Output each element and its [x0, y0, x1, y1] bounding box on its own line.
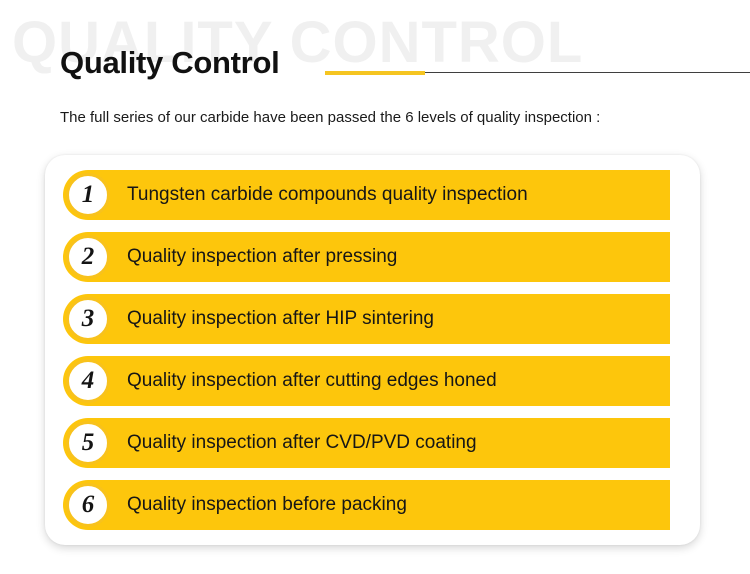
list-item[interactable]: 6 Quality inspection before packing	[45, 480, 700, 530]
title-rule-line	[425, 72, 750, 73]
page-header: QUALITY CONTROL Quality Control The full…	[0, 0, 750, 100]
step-number: 5	[82, 430, 95, 455]
list-item[interactable]: 5 Quality inspection after CVD/PVD coati…	[45, 418, 700, 468]
list-item[interactable]: 2 Quality inspection after pressing	[45, 232, 700, 282]
page-title: Quality Control	[60, 46, 279, 80]
steps-list: 1 Tungsten carbide compounds quality ins…	[45, 170, 700, 542]
title-accent-bar	[325, 71, 425, 75]
list-item[interactable]: 4 Quality inspection after cutting edges…	[45, 356, 700, 406]
title-divider	[325, 70, 750, 76]
step-label: Quality inspection after HIP sintering	[127, 294, 434, 344]
step-number-badge: 1	[66, 173, 110, 217]
page-subtitle: The full series of our carbide have been…	[60, 108, 600, 128]
steps-card: 1 Tungsten carbide compounds quality ins…	[45, 155, 700, 545]
step-number-badge: 2	[66, 235, 110, 279]
list-item[interactable]: 3 Quality inspection after HIP sintering	[45, 294, 700, 344]
step-number: 6	[82, 492, 95, 517]
step-label: Quality inspection after cutting edges h…	[127, 356, 497, 406]
step-number-badge: 4	[66, 359, 110, 403]
step-label: Quality inspection after pressing	[127, 232, 397, 282]
step-label: Quality inspection after CVD/PVD coating	[127, 418, 477, 468]
step-number: 2	[82, 244, 95, 269]
step-number-badge: 5	[66, 421, 110, 465]
step-number-badge: 6	[66, 483, 110, 527]
step-label: Quality inspection before packing	[127, 480, 407, 530]
step-label: Tungsten carbide compounds quality inspe…	[127, 170, 528, 220]
step-number: 1	[82, 182, 95, 207]
step-number: 4	[82, 368, 95, 393]
step-number: 3	[82, 306, 95, 331]
list-item[interactable]: 1 Tungsten carbide compounds quality ins…	[45, 170, 700, 220]
step-number-badge: 3	[66, 297, 110, 341]
